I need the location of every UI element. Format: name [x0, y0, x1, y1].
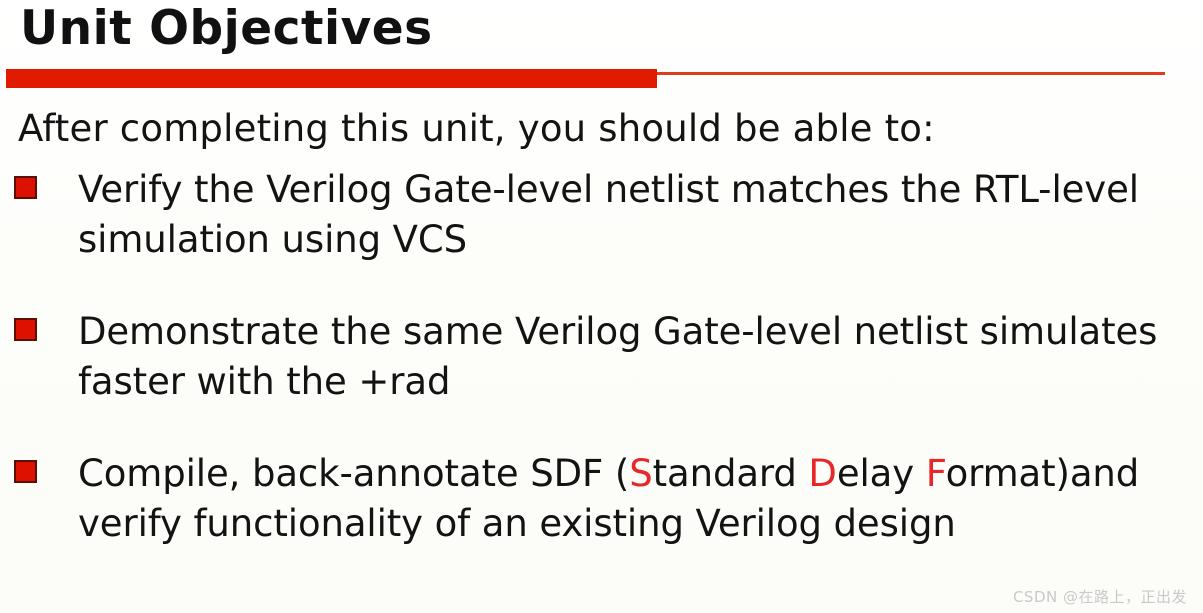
highlight-letter: S [629, 452, 652, 495]
bullet-text-3: Compile, back-annotate SDF (Standard Del… [78, 449, 1183, 549]
highlight-letter: F [926, 452, 946, 495]
plain-text-run: Verify the Verilog Gate-level netlist ma… [78, 168, 1139, 261]
bullet-text-1: Verify the Verilog Gate-level netlist ma… [78, 165, 1183, 265]
bullet-text-2: Demonstrate the same Verilog Gate-level … [78, 307, 1183, 407]
list-item: Demonstrate the same Verilog Gate-level … [0, 307, 1203, 407]
intro-text: After completing this unit, you should b… [18, 107, 935, 150]
list-item: Verify the Verilog Gate-level netlist ma… [0, 165, 1203, 265]
plain-text-run: Demonstrate the same Verilog Gate-level … [78, 310, 1157, 403]
title-divider-thick-bar [6, 69, 657, 88]
highlight-letter: D [808, 452, 836, 495]
plain-text-run: tandard [653, 452, 809, 495]
csdn-watermark: CSDN @在路上，正出发 [1013, 586, 1187, 607]
square-bullet-icon [14, 176, 37, 199]
slide-canvas: Unit Objectives After completing this un… [0, 0, 1203, 613]
list-item: Compile, back-annotate SDF (Standard Del… [0, 449, 1203, 549]
title-divider [0, 66, 1203, 88]
square-bullet-icon [14, 460, 37, 483]
plain-text-run: elay [837, 452, 926, 495]
page-title: Unit Objectives [20, 2, 433, 56]
square-bullet-icon [14, 318, 37, 341]
objectives-list: Verify the Verilog Gate-level netlist ma… [0, 165, 1203, 549]
plain-text-run: Compile, back-annotate SDF ( [78, 452, 629, 495]
